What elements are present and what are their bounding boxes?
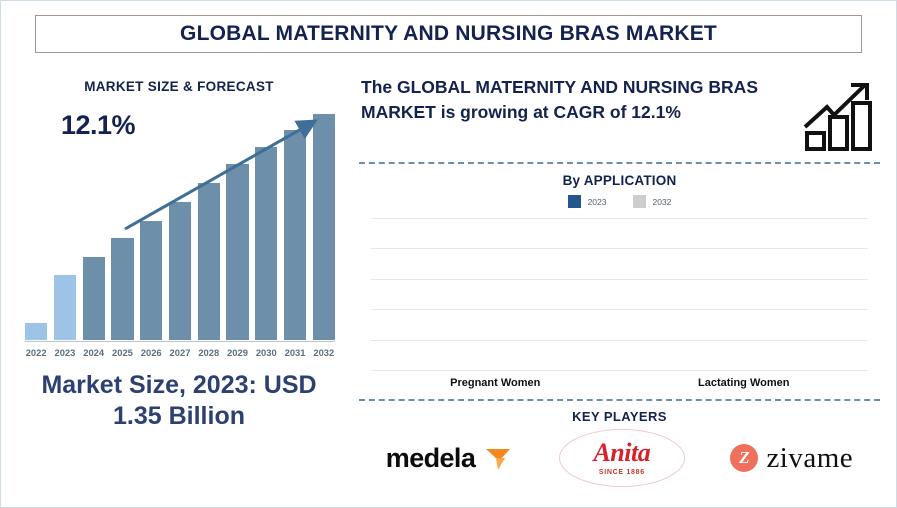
gridline xyxy=(371,370,868,371)
bar-fill xyxy=(83,257,105,340)
bar-fill xyxy=(255,147,277,340)
bar-fill xyxy=(54,275,76,340)
zivame-wordmark: zivame xyxy=(766,442,853,475)
bar-fill xyxy=(198,183,220,340)
page-title: GLOBAL MATERNITY AND NURSING BRAS MARKET xyxy=(180,22,717,46)
application-chart-legend: 20232032 xyxy=(353,195,886,208)
page-title-box: GLOBAL MATERNITY AND NURSING BRAS MARKET xyxy=(35,15,862,53)
bar-fill xyxy=(111,238,133,340)
anita-wordmark: Anita xyxy=(593,440,650,466)
legend-item-2032[interactable]: 2032 xyxy=(633,195,672,208)
market-size-heading: MARKET SIZE & FORECAST xyxy=(11,79,347,94)
medela-wordmark: medela xyxy=(386,443,475,474)
forecast-bars xyxy=(25,114,335,340)
key-players-heading: KEY PLAYERS xyxy=(353,409,886,424)
forecast-bar-2027 xyxy=(169,114,191,340)
divider-top xyxy=(359,162,880,164)
forecast-bar-2032 xyxy=(313,114,335,340)
year-label-2031: 2031 xyxy=(284,347,306,358)
bar-fill xyxy=(284,130,306,340)
bar-fill xyxy=(25,323,47,340)
key-players-row: medela Anita SINCE 1886 Z xyxy=(353,432,886,484)
application-bar-groups xyxy=(371,218,868,370)
x-axis-line xyxy=(25,341,335,342)
player-logo-anita: Anita SINCE 1886 xyxy=(559,432,685,484)
forecast-bar-2028 xyxy=(198,114,220,340)
category-label-pregnant-women: Pregnant Women xyxy=(388,377,602,389)
infographic-root: GLOBAL MATERNITY AND NURSING BRAS MARKET… xyxy=(0,0,897,508)
forecast-bar-2022 xyxy=(25,114,47,340)
growth-bar-chart-arrow-icon xyxy=(800,77,882,153)
year-label-2027: 2027 xyxy=(169,347,191,358)
anita-tagline: SINCE 1886 xyxy=(599,469,645,476)
medela-leaf-icon xyxy=(483,444,513,472)
right-panel: The GLOBAL MATERNITY AND NURSING BRAS MA… xyxy=(347,67,886,507)
market-size-value: Market Size, 2023: USD 1.35 Billion xyxy=(11,370,347,431)
forecast-bar-2030 xyxy=(255,114,277,340)
cagr-statement: The GLOBAL MATERNITY AND NURSING BRAS MA… xyxy=(361,75,800,125)
bar-fill xyxy=(169,202,191,340)
legend-label: 2023 xyxy=(588,197,607,207)
year-label-2030: 2030 xyxy=(255,347,277,358)
legend-swatch-icon xyxy=(568,195,581,208)
year-label-2028: 2028 xyxy=(198,347,220,358)
year-label-2032: 2032 xyxy=(313,347,335,358)
year-label-2025: 2025 xyxy=(111,347,133,358)
divider-bottom xyxy=(359,399,880,401)
legend-item-2023[interactable]: 2023 xyxy=(568,195,607,208)
bar-fill xyxy=(313,114,335,340)
forecast-bar-2029 xyxy=(226,114,248,340)
year-label-2029: 2029 xyxy=(226,347,248,358)
by-application-chart xyxy=(371,218,868,370)
player-logo-zivame: Z zivame xyxy=(730,432,853,484)
forecast-bar-2023 xyxy=(54,114,76,340)
year-label-2023: 2023 xyxy=(54,347,76,358)
market-size-panel: MARKET SIZE & FORECAST 12.1% 20222023202… xyxy=(11,67,347,507)
player-logo-medela: medela xyxy=(386,432,513,484)
anita-oval-border: Anita SINCE 1886 xyxy=(559,429,685,487)
cagr-statement-row: The GLOBAL MATERNITY AND NURSING BRAS MA… xyxy=(353,67,886,153)
main-body: MARKET SIZE & FORECAST 12.1% 20222023202… xyxy=(11,67,886,507)
forecast-bar-2024 xyxy=(83,114,105,340)
market-size-line-1: Market Size, 2023: USD xyxy=(11,370,347,401)
forecast-bar-2025 xyxy=(111,114,133,340)
year-label-2022: 2022 xyxy=(25,347,47,358)
year-label-2024: 2024 xyxy=(83,347,105,358)
year-axis-labels: 2022202320242025202620272028202920302031… xyxy=(25,347,335,358)
application-category-labels: Pregnant WomenLactating Women xyxy=(371,377,868,389)
year-label-2026: 2026 xyxy=(140,347,162,358)
zivame-z-badge-icon: Z xyxy=(730,444,758,472)
forecast-bar-2031 xyxy=(284,114,306,340)
market-size-line-2: 1.35 Billion xyxy=(11,401,347,432)
bar-fill xyxy=(226,164,248,340)
category-label-lactating-women: Lactating Women xyxy=(637,377,851,389)
market-size-forecast-chart: 12.1% 2022202320242025202620272028202920… xyxy=(25,104,335,354)
cagr-annotation: 12.1% xyxy=(61,110,135,141)
forecast-bar-2026 xyxy=(140,114,162,340)
bar-fill xyxy=(140,221,162,340)
segment-heading: By APPLICATION xyxy=(353,173,886,188)
legend-label: 2032 xyxy=(653,197,672,207)
legend-swatch-icon xyxy=(633,195,646,208)
